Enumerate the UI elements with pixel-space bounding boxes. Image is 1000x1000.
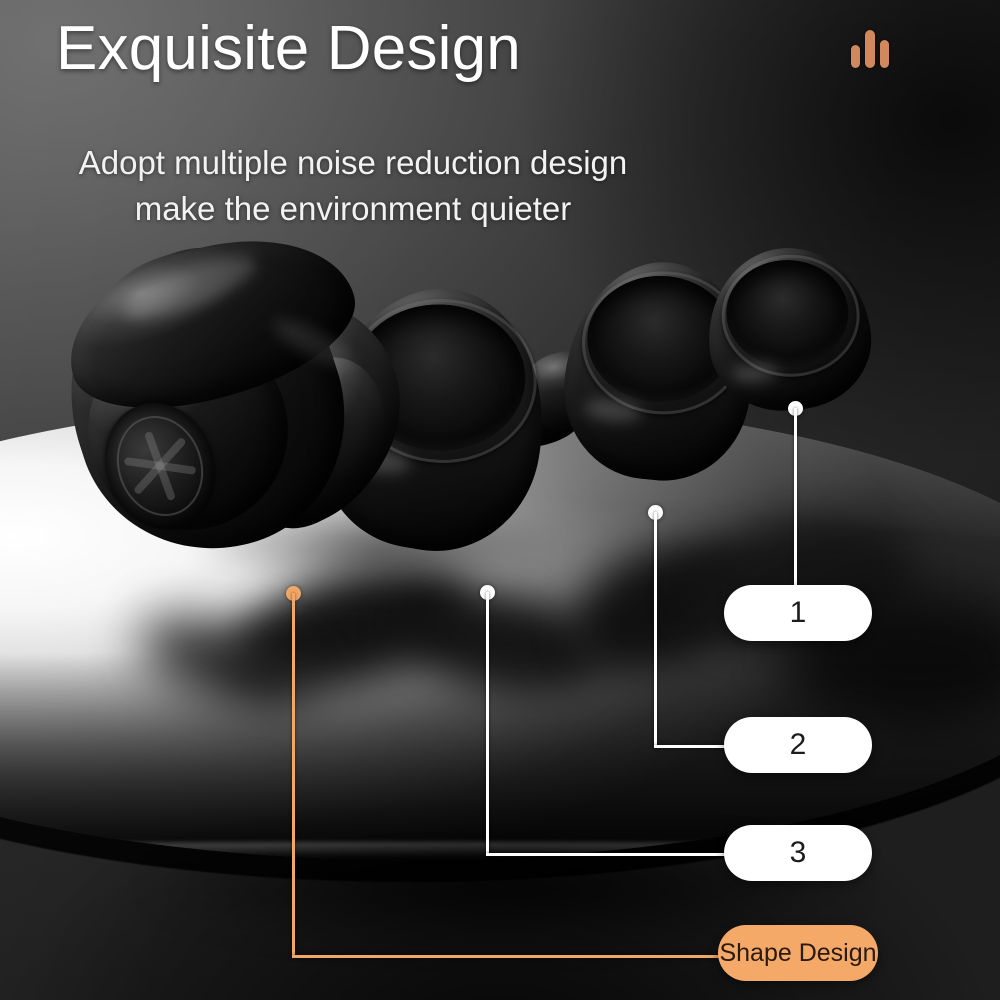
page-title: Exquisite Design	[56, 16, 521, 83]
product-feature-image: Exquisite Design Adopt multiple noise re…	[0, 0, 1000, 1000]
ear-tip-small	[700, 240, 878, 418]
ear-tip-lip	[722, 255, 860, 377]
callout-badge-2[interactable]: 2	[724, 717, 872, 773]
subtitle-line-1: Adopt multiple noise reduction design	[79, 144, 628, 181]
equalizer-logo-icon	[851, 26, 893, 68]
equalizer-bar-2	[865, 30, 875, 68]
equalizer-bar-3	[880, 40, 889, 68]
callout-badge-shape-design[interactable]: Shape Design	[718, 925, 878, 981]
callout-badge-3[interactable]: 3	[724, 825, 872, 881]
subtitle-line-2: make the environment quieter	[0, 186, 706, 232]
equalizer-bar-1	[851, 45, 860, 68]
callout-badge-1[interactable]: 1	[724, 585, 872, 641]
page-subtitle: Adopt multiple noise reduction design ma…	[0, 140, 706, 231]
